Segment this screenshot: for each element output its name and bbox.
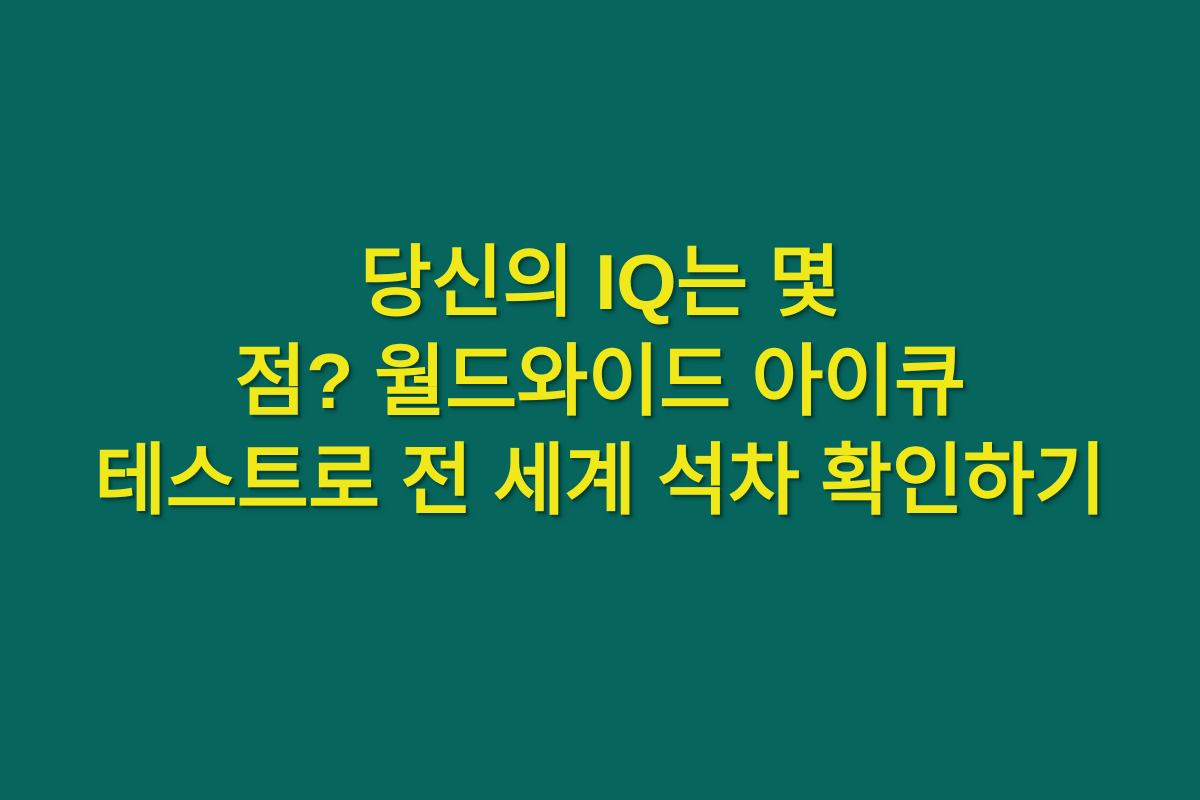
headline-line-3: 테스트로 전 세계 석차 확인하기 — [0, 431, 1200, 530]
headline-block: 당신의 IQ는 몇 점? 월드와이드 아이큐 테스트로 전 세계 석차 확인하기 — [0, 233, 1200, 530]
headline-line-1: 당신의 IQ는 몇 — [0, 233, 1200, 332]
headline-line-2: 점? 월드와이드 아이큐 — [0, 332, 1200, 431]
title-card: 당신의 IQ는 몇 점? 월드와이드 아이큐 테스트로 전 세계 석차 확인하기 — [0, 0, 1200, 800]
